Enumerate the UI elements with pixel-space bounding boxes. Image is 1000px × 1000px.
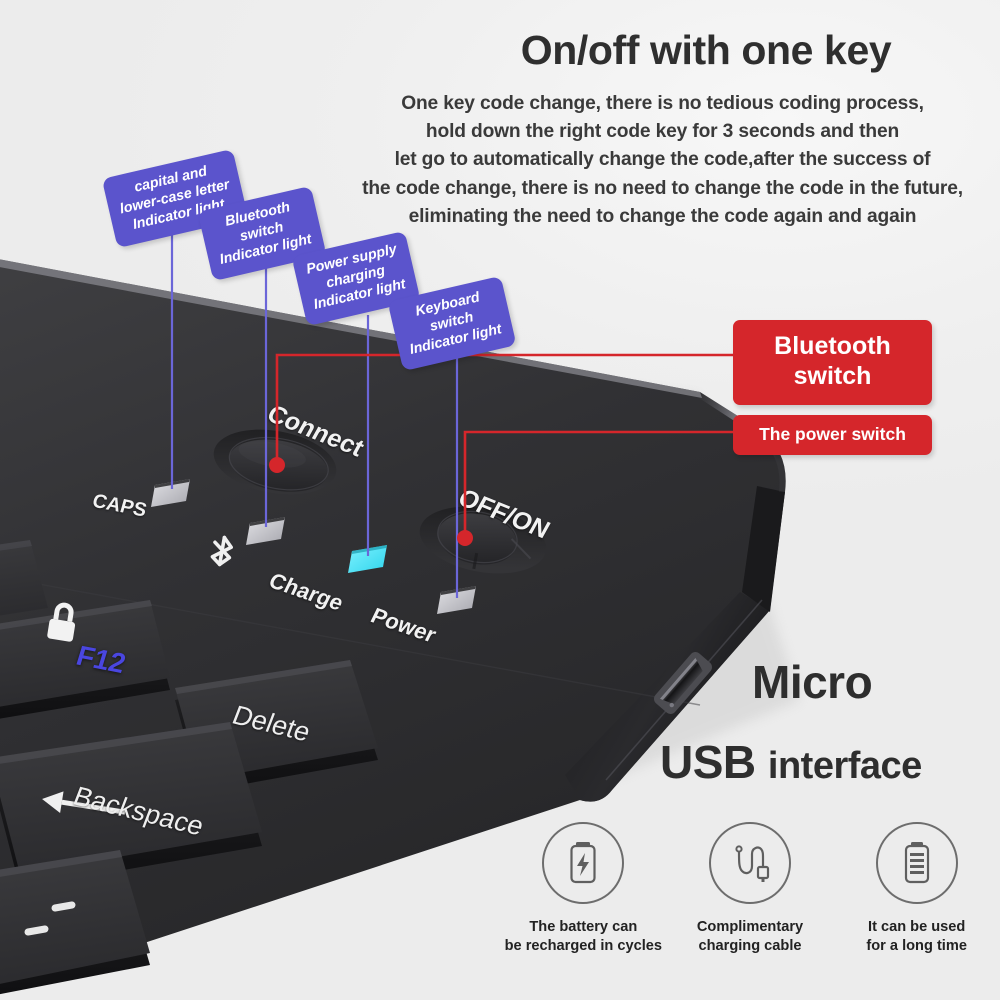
feature-caption-line: It can be used <box>833 918 1000 937</box>
usb-heading-line2: USB interface <box>660 735 922 789</box>
feature-caption-line: for a long time <box>833 937 1000 956</box>
feature-caption-line: The battery can <box>500 918 667 937</box>
feature-charging-cable: Complimentarycharging cable <box>667 822 834 957</box>
feature-caption: Complimentarycharging cable <box>667 918 834 957</box>
leader-dot-connect <box>269 457 285 473</box>
battery-full-icon <box>876 822 958 904</box>
callout-bluetooth-switch: Bluetoothswitch <box>733 320 932 405</box>
charging-cable-icon <box>709 822 791 904</box>
feature-caption-line: Complimentary <box>667 918 834 937</box>
feature-row: The battery canbe recharged in cycles Co… <box>500 822 1000 957</box>
feature-battery-recharge: The battery canbe recharged in cycles <box>500 822 667 957</box>
description-line: One key code change, there is no tedious… <box>330 90 995 118</box>
leader-bluetooth-switch <box>277 355 733 465</box>
leader-dot-offon <box>457 530 473 546</box>
infographic-canvas: Connect OFF/ON CAPS Charge Power F12 Del… <box>0 0 1000 1000</box>
description-line: let go to automatically change the code,… <box>330 146 995 174</box>
callout-power-switch: The power switch <box>733 415 932 455</box>
usb-heading-line1: Micro <box>752 655 872 709</box>
battery-charging-icon <box>542 822 624 904</box>
description-line: eliminating the need to change the code … <box>330 203 995 231</box>
callout-line: Bluetooth <box>739 332 926 362</box>
feature-long-battery-life: It can be usedfor a long time <box>833 822 1000 957</box>
usb-word-usb: USB <box>660 736 756 788</box>
description-line: the code change, there is no need to cha… <box>330 175 995 203</box>
description-text: One key code change, there is no tedious… <box>330 90 995 231</box>
feature-caption: The battery canbe recharged in cycles <box>500 918 667 957</box>
feature-caption-line: charging cable <box>667 937 834 956</box>
description-line: hold down the right code key for 3 secon… <box>330 118 995 146</box>
page-title: On/off with one key <box>420 28 992 72</box>
callout-line: switch <box>739 362 926 392</box>
feature-caption: It can be usedfor a long time <box>833 918 1000 957</box>
callout-line: The power switch <box>739 424 926 445</box>
usb-word-interface: interface <box>768 745 922 787</box>
feature-caption-line: be recharged in cycles <box>500 937 667 956</box>
leader-power-switch <box>465 432 733 538</box>
